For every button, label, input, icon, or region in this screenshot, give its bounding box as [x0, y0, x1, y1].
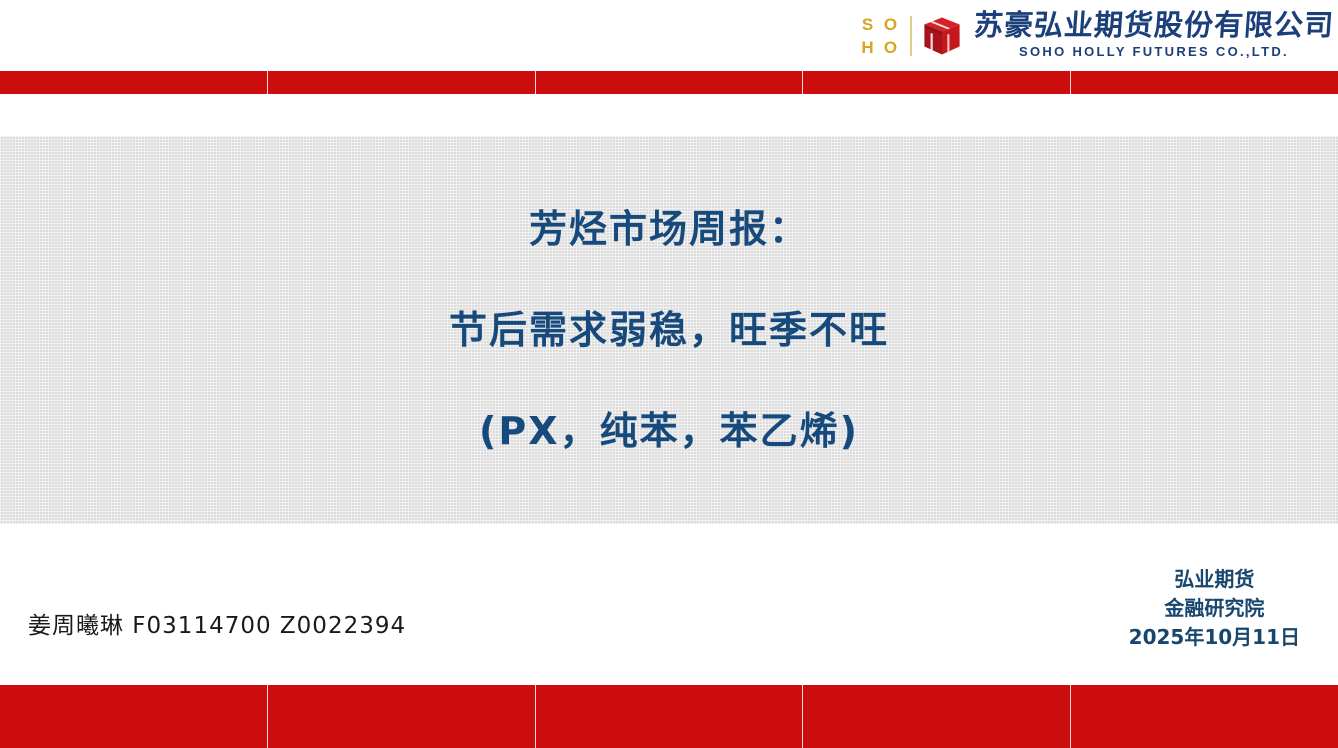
title-panel: 芳烃市场周报： 节后需求弱稳，旺季不旺 (PX，纯苯，苯乙烯) — [0, 136, 1338, 524]
page-header: S O H O 苏豪弘业期货股份有限公司 SOHO HOLLY FUTURES … — [0, 0, 1338, 71]
accent-bar-segment — [803, 71, 1071, 94]
report-title-line-2: 节后需求弱稳，旺季不旺 — [449, 311, 889, 349]
organization-block: 弘业期货 金融研究院 2025年10月11日 — [1129, 565, 1300, 652]
organization-name: 弘业期货 — [1129, 565, 1300, 594]
report-title-line-1: 芳烃市场周报： — [529, 210, 809, 248]
accent-bar-segment — [268, 685, 536, 748]
company-name-en: SOHO HOLLY FUTURES CO.,LTD. — [974, 44, 1334, 60]
bottom-accent-bar — [0, 685, 1338, 748]
report-date: 2025年10月11日 — [1129, 623, 1300, 652]
accent-bar-segment — [536, 71, 804, 94]
soho-letter-h: H — [857, 37, 878, 58]
company-name-block: 苏豪弘业期货股份有限公司 SOHO HOLLY FUTURES CO.,LTD. — [974, 10, 1334, 61]
company-logo: S O H O 苏豪弘业期货股份有限公司 SOHO HOLLY FUTURES … — [857, 8, 1334, 64]
company-name-cn: 苏豪弘业期货股份有限公司 — [973, 10, 1335, 40]
accent-bar-segment — [0, 685, 268, 748]
soho-monogram-icon: S O H O — [857, 14, 901, 58]
top-accent-bar — [0, 71, 1338, 94]
logo-divider — [910, 16, 912, 56]
accent-bar-segment — [803, 685, 1071, 748]
soho-letter-s: S — [857, 14, 878, 35]
accent-bar-segment — [0, 71, 268, 94]
soho-letter-o-bottom: O — [880, 37, 901, 58]
soho-letter-o-top: O — [880, 14, 901, 35]
accent-bar-segment — [1071, 71, 1338, 94]
accent-bar-segment — [268, 71, 536, 94]
report-title-line-3: (PX，纯苯，苯乙烯) — [479, 412, 859, 450]
accent-bar-segment — [1071, 685, 1338, 748]
organization-department: 金融研究院 — [1129, 594, 1300, 623]
accent-bar-segment — [536, 685, 804, 748]
red-cube-logo-icon — [920, 13, 964, 59]
author-credentials: 姜周曦琳 F03114700 Z0022394 — [28, 606, 406, 640]
